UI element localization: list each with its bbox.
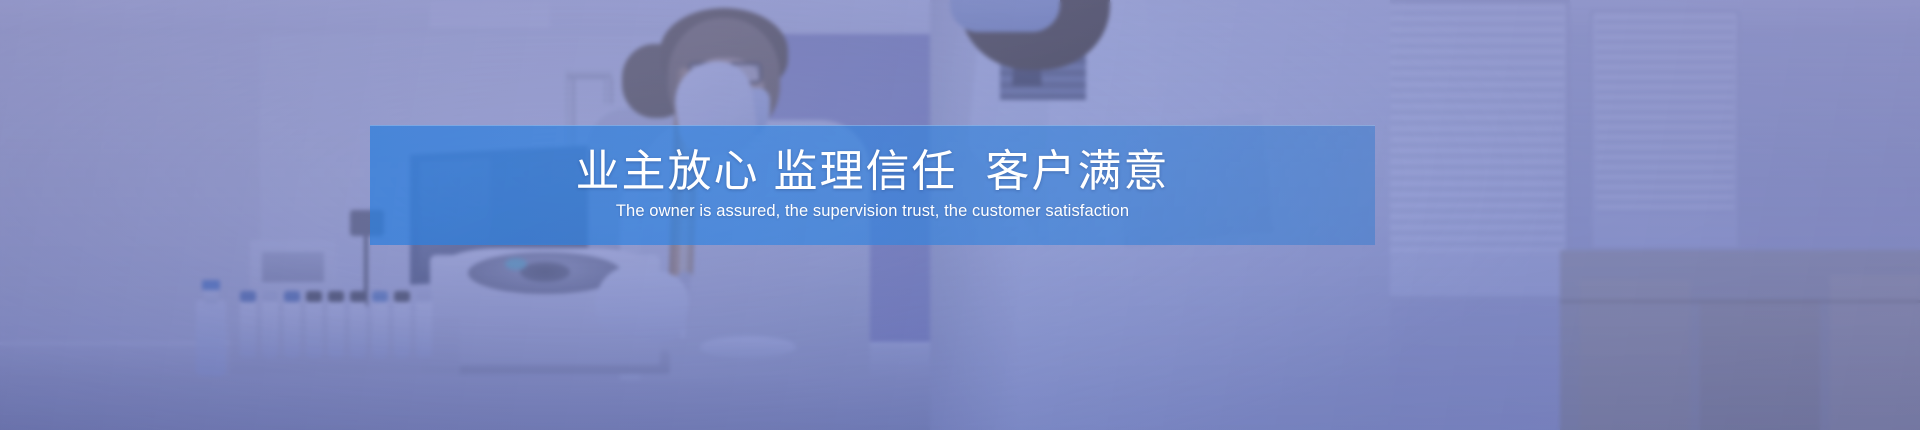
headline-part-1: 业主放心	[576, 147, 760, 196]
band-top-rule	[370, 125, 1375, 126]
headline-part-3: 客户满意	[986, 147, 1170, 196]
headline-part-2: 监理信任	[774, 147, 958, 196]
headline-chinese: 业主放心监理信任客户满意	[576, 149, 1170, 196]
hero-banner: 业主放心监理信任客户满意 The owner is assured, the s…	[0, 0, 1920, 430]
subheadline-english: The owner is assured, the supervision tr…	[616, 202, 1129, 221]
headline-band: 业主放心监理信任客户满意 The owner is assured, the s…	[370, 125, 1375, 245]
